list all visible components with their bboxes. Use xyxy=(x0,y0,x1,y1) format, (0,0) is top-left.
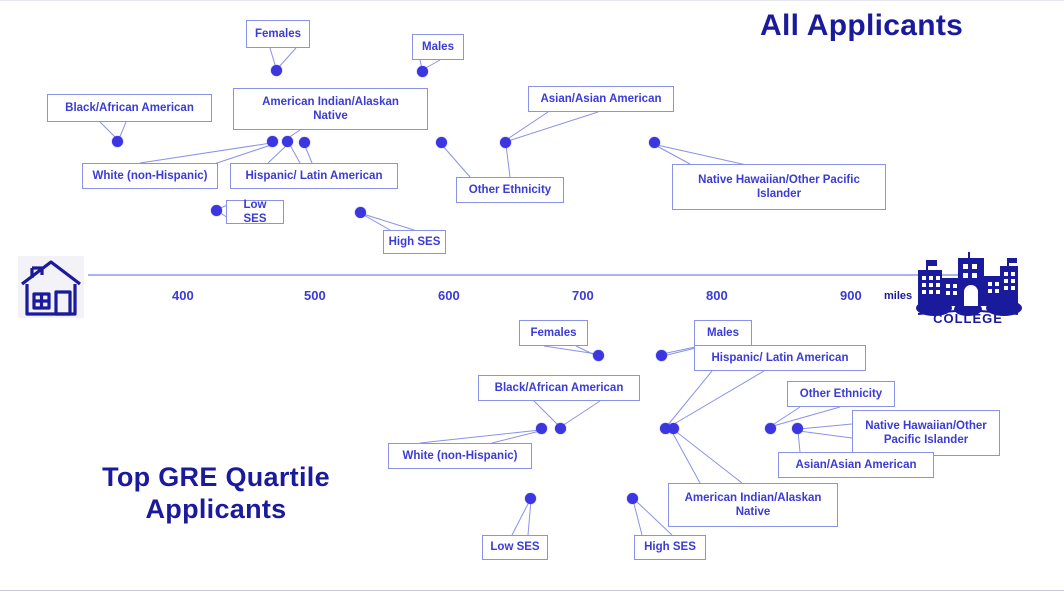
data-point-other-ethnicity-all[interactable] xyxy=(436,137,447,148)
data-point-american-indian-alaskan-native-gre[interactable] xyxy=(668,423,679,434)
callout-other-ethnicity-all[interactable]: Other Ethnicity xyxy=(456,177,564,203)
slide-canvas: All Applicants Top GRE Quartile Applican… xyxy=(0,0,1064,598)
callout-low-ses-all[interactable]: Low SES xyxy=(226,200,284,224)
page-title-all-applicants: All Applicants xyxy=(760,8,963,43)
axis-tick-600: 600 xyxy=(438,288,460,303)
data-point-asian-asian-american-all[interactable] xyxy=(500,137,511,148)
data-point-low-ses-gre[interactable] xyxy=(525,493,536,504)
callout-native-hawaiian-pacific-islander-gre[interactable]: Native Hawaiian/Other Pacific Islander xyxy=(852,410,1000,456)
callout-low-ses-gre[interactable]: Low SES xyxy=(482,535,548,560)
callout-other-ethnicity-gre[interactable]: Other Ethnicity xyxy=(787,381,895,407)
callout-white-non-hispanic-gre[interactable]: White (non-Hispanic) xyxy=(388,443,532,469)
bottom-divider xyxy=(0,590,1064,591)
callout-american-indian-alaskan-native-gre[interactable]: American Indian/Alaskan Native xyxy=(668,483,838,527)
data-point-females-gre[interactable] xyxy=(593,350,604,361)
svg-text:COLLEGE: COLLEGE xyxy=(933,311,1003,324)
data-point-males-all[interactable] xyxy=(417,66,428,77)
house-icon xyxy=(18,256,84,318)
axis-line xyxy=(88,274,968,276)
data-point-white-non-hispanic-gre[interactable] xyxy=(536,423,547,434)
data-point-females-all[interactable] xyxy=(271,65,282,76)
data-point-american-indian-alaskan-native-all[interactable] xyxy=(282,136,293,147)
callout-hispanic-latin-american-gre[interactable]: Hispanic/ Latin American xyxy=(694,345,866,371)
data-point-hispanic-latin-american-all[interactable] xyxy=(299,137,310,148)
axis-tick-400: 400 xyxy=(172,288,194,303)
college-icon: COLLEGE xyxy=(912,252,1024,324)
callout-asian-asian-american-gre[interactable]: Asian/Asian American xyxy=(778,452,934,478)
callout-american-indian-alaskan-native-all[interactable]: American Indian/Alaskan Native xyxy=(233,88,428,130)
callout-females-all[interactable]: Females xyxy=(246,20,310,48)
data-point-native-hawaiian-pacific-islander-all[interactable] xyxy=(649,137,660,148)
callout-high-ses-all[interactable]: High SES xyxy=(383,230,446,254)
top-divider xyxy=(0,0,1064,1)
callout-black-african-american-all[interactable]: Black/African American xyxy=(47,94,212,122)
callout-black-african-american-gre[interactable]: Black/African American xyxy=(478,375,640,401)
axis-tick-800: 800 xyxy=(706,288,728,303)
callout-high-ses-gre[interactable]: High SES xyxy=(634,535,706,560)
callout-males-gre[interactable]: Males xyxy=(694,320,752,346)
data-point-black-african-american-all[interactable] xyxy=(112,136,123,147)
data-point-white-non-hispanic-all[interactable] xyxy=(267,136,278,147)
data-point-low-ses-all[interactable] xyxy=(211,205,222,216)
data-point-black-african-american-gre[interactable] xyxy=(555,423,566,434)
page-title-top-gre-quartile: Top GRE Quartile Applicants xyxy=(96,462,336,526)
data-point-asian-asian-american-gre[interactable] xyxy=(792,423,803,434)
axis-tick-700: 700 xyxy=(572,288,594,303)
callout-asian-asian-american-all[interactable]: Asian/Asian American xyxy=(528,86,674,112)
data-point-other-ethnicity-gre[interactable] xyxy=(765,423,776,434)
axis-tick-900: 900 xyxy=(840,288,862,303)
callout-hispanic-latin-american-all[interactable]: Hispanic/ Latin American xyxy=(230,163,398,189)
data-point-high-ses-gre[interactable] xyxy=(627,493,638,504)
axis-tick-500: 500 xyxy=(304,288,326,303)
data-point-high-ses-all[interactable] xyxy=(355,207,366,218)
callout-females-gre[interactable]: Females xyxy=(519,320,588,346)
callout-males-all[interactable]: Males xyxy=(412,34,464,60)
callout-native-hawaiian-pacific-islander-all[interactable]: Native Hawaiian/Other Pacific Islander xyxy=(672,164,886,210)
callout-white-non-hispanic-all[interactable]: White (non-Hispanic) xyxy=(82,163,218,189)
data-point-males-gre[interactable] xyxy=(656,350,667,361)
axis-units-label: miles xyxy=(884,290,912,302)
